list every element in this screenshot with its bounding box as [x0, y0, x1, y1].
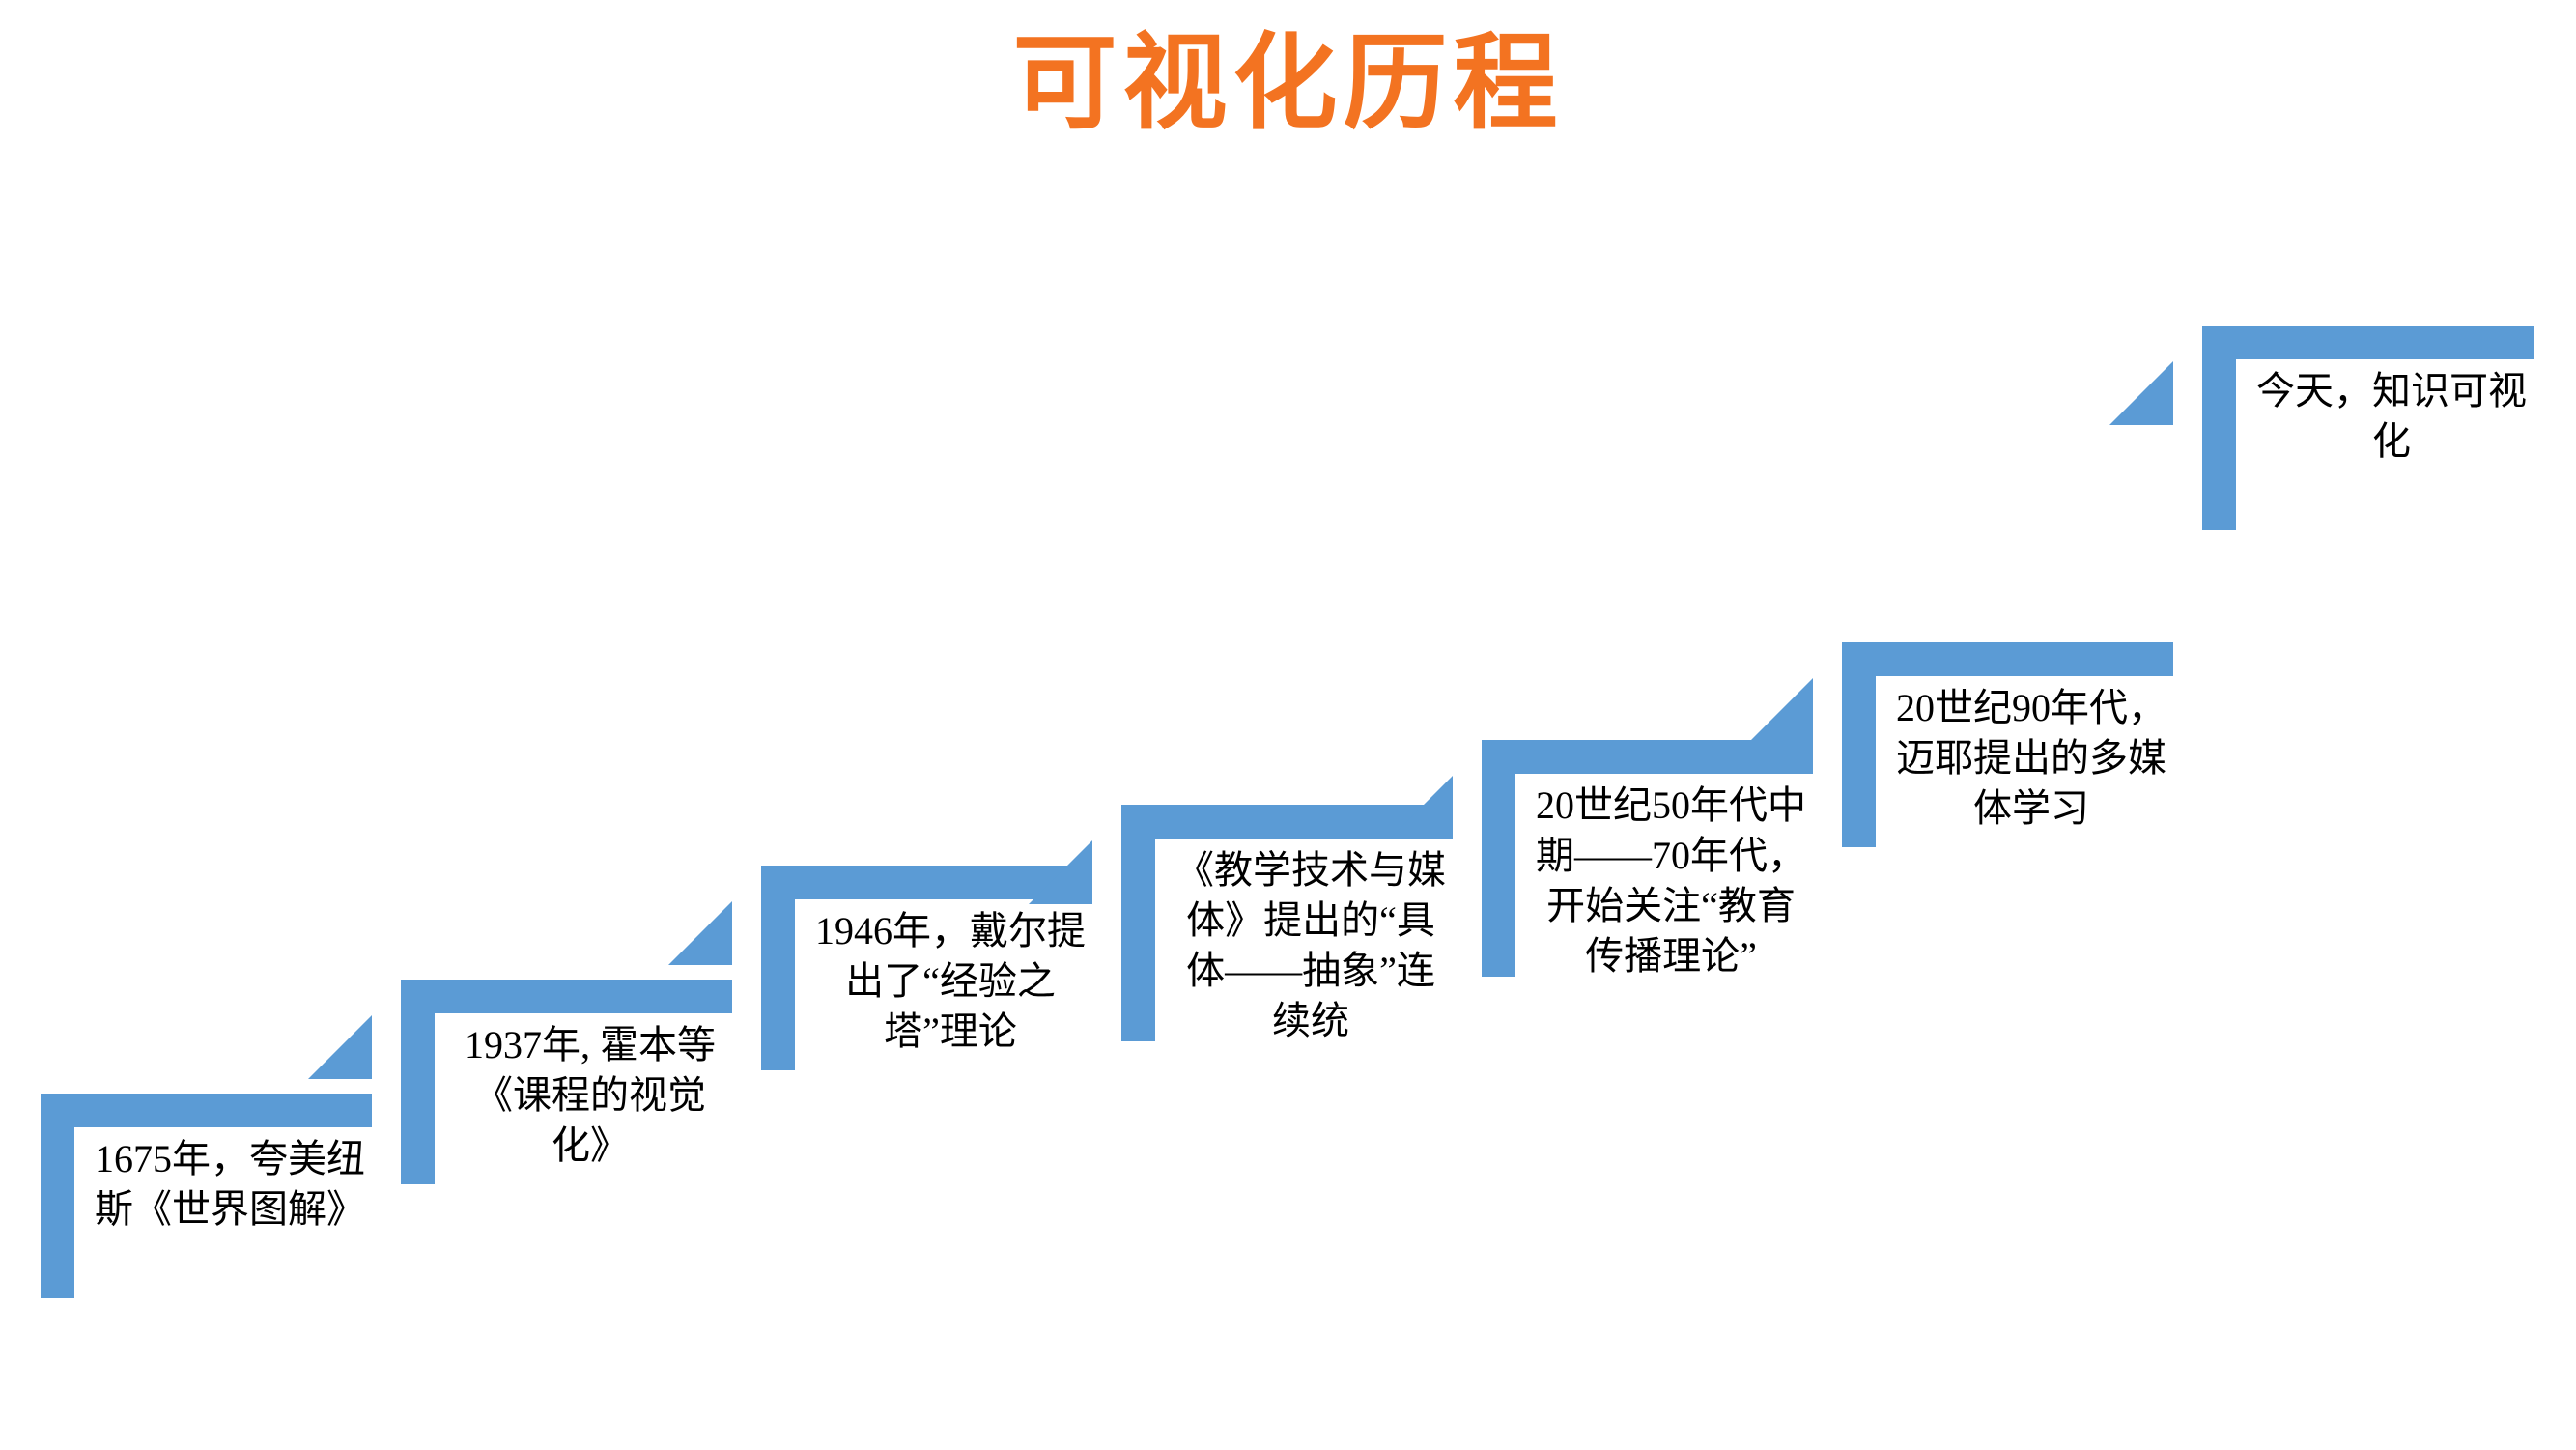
step-bracket-left-bar [2202, 359, 2236, 530]
step-bracket-left-bar [41, 1127, 74, 1298]
step-label: 1937年, 霍本等《课程的视觉化》 [451, 1020, 729, 1171]
step-arrow-icon [1749, 678, 1813, 742]
step-arrow-icon [1389, 776, 1453, 839]
step-label: 《教学技术与媒体》提出的“具体——抽象”连续统 [1172, 845, 1450, 1046]
slide-canvas: 可视化历程 1675年，夸美纽斯《世界图解》1937年, 霍本等《课程的视觉化》… [0, 0, 2576, 1450]
step-bracket-top-bar [1482, 740, 1813, 774]
step-bracket-left-bar [1121, 839, 1155, 1041]
step-bracket-top-bar [401, 980, 732, 1013]
step-bracket-left-bar [1842, 676, 1876, 847]
step-label: 20世纪90年代，迈耶提出的多媒体学习 [1892, 683, 2170, 834]
page-title: 可视化历程 [0, 25, 2576, 142]
step-arrow-icon [1029, 840, 1092, 904]
step-label: 1675年，夸美纽斯《世界图解》 [91, 1134, 369, 1235]
step-arrow-icon [2109, 361, 2173, 425]
step-bracket-left-bar [1482, 774, 1515, 977]
step-label: 今天，知识可视化 [2252, 366, 2531, 467]
step-label: 1946年，戴尔提出了“经验之塔”理论 [811, 906, 1090, 1057]
step-bracket-top-bar [1842, 642, 2173, 676]
step-bracket-top-bar [41, 1094, 372, 1127]
step-bracket-left-bar [761, 899, 795, 1070]
step-arrow-icon [668, 901, 732, 965]
step-bracket-top-bar [2202, 326, 2534, 359]
step-arrow-icon [308, 1015, 372, 1079]
step-bracket-left-bar [401, 1013, 435, 1184]
step-label: 20世纪50年代中期——70年代，开始关注“教育传播理论” [1532, 781, 1810, 981]
